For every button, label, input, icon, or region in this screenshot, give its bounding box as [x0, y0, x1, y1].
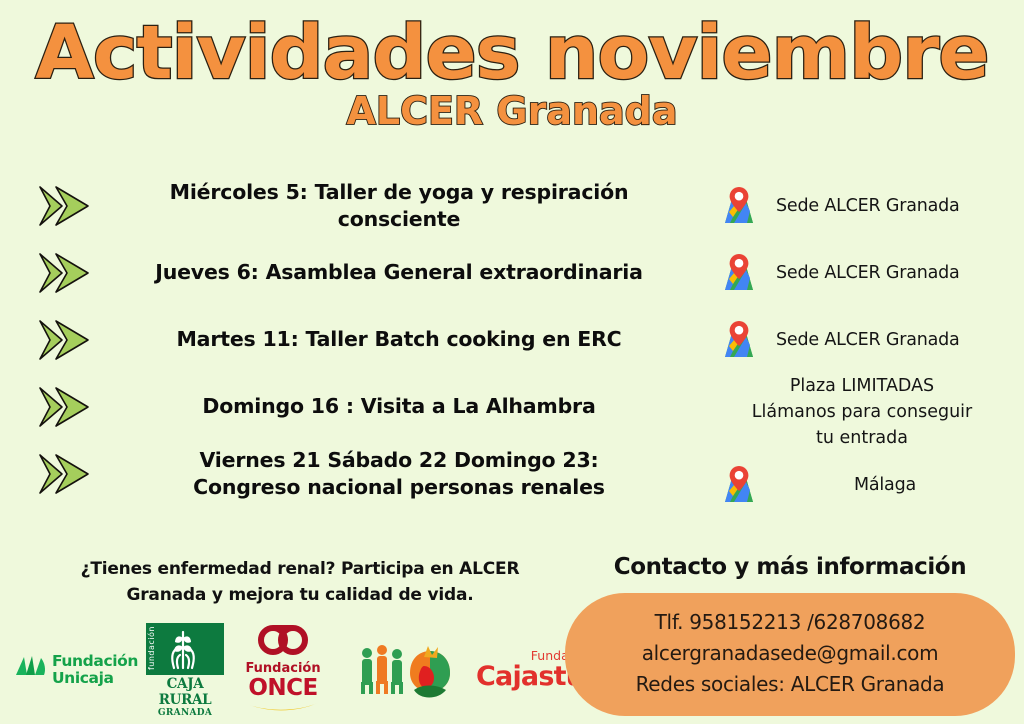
map-pin-icon — [716, 250, 762, 296]
once-rings-icon — [252, 643, 314, 660]
green-arrow-icon — [36, 318, 94, 362]
venue-item: Sede ALCER Granada — [700, 172, 1024, 239]
venue-note-line1: Plaza LIMITADAS — [700, 373, 1024, 399]
green-arrow-icon — [36, 184, 94, 228]
venue-note: Plaza LIMITADAS Llámanos para conseguir … — [700, 373, 1024, 451]
caja-rural-wordmark: CAJA RURAL — [146, 676, 224, 708]
contact-title: Contacto y más información — [565, 552, 1015, 582]
venue-label: Málaga — [776, 472, 1024, 498]
activity-label: Miércoles 5: Taller de yoga y respiració… — [108, 179, 700, 233]
activity-label: Domingo 16 : Visita a La Alhambra — [108, 393, 700, 420]
poster-header: Actividades noviembre ALCER Granada — [0, 0, 1024, 132]
caja-rural-vertical-label: fundación — [146, 623, 158, 673]
activity-label: Viernes 21 Sábado 22 Domingo 23: Congres… — [108, 447, 700, 501]
logo-caja-rural-granada: fundación CAJA RURAL GRA — [146, 623, 224, 718]
green-arrow-icon — [36, 385, 94, 429]
contact-phone[interactable]: Tlf. 958152213 /628708682 — [589, 607, 991, 638]
green-arrow-icon — [36, 251, 94, 295]
contact-block: Contacto y más información Tlf. 95815221… — [565, 552, 1015, 716]
activity-label-line1: Viernes 21 Sábado 22 Domingo 23: — [199, 448, 598, 472]
page-title: Actividades noviembre — [0, 12, 1024, 94]
activity-label: Jueves 6: Asamblea General extraordinari… — [108, 259, 700, 286]
caja-rural-emblem: fundación — [146, 623, 224, 675]
unicaja-wordmark: Fundación Unicaja — [52, 653, 138, 687]
venue-label: Sede ALCER Granada — [776, 193, 960, 219]
cta-line1: ¿Tienes enfermedad renal? Participa en A… — [60, 556, 540, 582]
venue-note-line3: tu entrada — [700, 425, 1024, 451]
once-line2: ONCE — [238, 676, 328, 700]
poster: Actividades noviembre ALCER Granada Miér… — [0, 0, 1024, 724]
map-pin-icon — [716, 183, 762, 229]
venues-list: Sede ALCER Granada Sede ALCER Granada — [700, 172, 1024, 518]
map-pin-icon — [716, 462, 762, 508]
venue-label: Sede ALCER Granada — [776, 327, 960, 353]
sponsor-logos: Fundación Unicaja fundación — [14, 622, 559, 718]
venue-label: Sede ALCER Granada — [776, 260, 960, 286]
unicaja-line2: Unicaja — [52, 670, 138, 687]
green-arrow-icon — [36, 452, 94, 496]
logo-granada-pomegranate — [354, 638, 462, 702]
venue-item: Sede ALCER Granada — [700, 306, 1024, 373]
activity-label-line2: Congreso nacional personas renales — [108, 474, 690, 501]
caja-rural-subtitle: GRANADA — [146, 708, 224, 718]
list-item: Jueves 6: Asamblea General extraordinari… — [0, 239, 700, 306]
list-item: Domingo 16 : Visita a La Alhambra — [0, 373, 700, 440]
contact-social[interactable]: Redes sociales: ALCER Granada — [589, 669, 991, 700]
list-item: Martes 11: Taller Batch cooking en ERC — [0, 306, 700, 373]
page-subtitle: ALCER Granada — [0, 90, 1024, 132]
list-item: Miércoles 5: Taller de yoga y respiració… — [0, 172, 700, 239]
map-pin-icon — [716, 317, 762, 363]
unicaja-fan-icon — [14, 653, 48, 688]
logo-fundacion-once: Fundación ONCE — [238, 622, 328, 718]
contact-pill: Tlf. 958152213 /628708682 alcergranadase… — [565, 593, 1015, 716]
cta-line2: Granada y mejora tu calidad de vida. — [60, 582, 540, 608]
once-swoosh-icon — [238, 700, 328, 717]
unicaja-line1: Fundación — [52, 653, 138, 670]
call-to-action: ¿Tienes enfermedad renal? Participa en A… — [60, 556, 540, 608]
venue-note-line2: Llámanos para conseguir — [700, 399, 1024, 425]
people-pomegranate-icon — [354, 638, 462, 702]
venue-item: Sede ALCER Granada — [700, 239, 1024, 306]
list-item: Viernes 21 Sábado 22 Domingo 23: Congres… — [0, 440, 700, 507]
venue-note-text: Plaza LIMITADAS Llámanos para conseguir … — [700, 373, 1024, 451]
activities-list: Miércoles 5: Taller de yoga y respiració… — [0, 172, 700, 507]
venue-item: Málaga — [700, 451, 1024, 518]
logo-fundacion-unicaja: Fundación Unicaja — [14, 648, 138, 692]
wheat-icon — [158, 624, 208, 674]
activity-label: Martes 11: Taller Batch cooking en ERC — [108, 326, 700, 353]
contact-email[interactable]: alcergranadasede@gmail.com — [589, 638, 991, 669]
once-line1: Fundación — [238, 661, 328, 676]
